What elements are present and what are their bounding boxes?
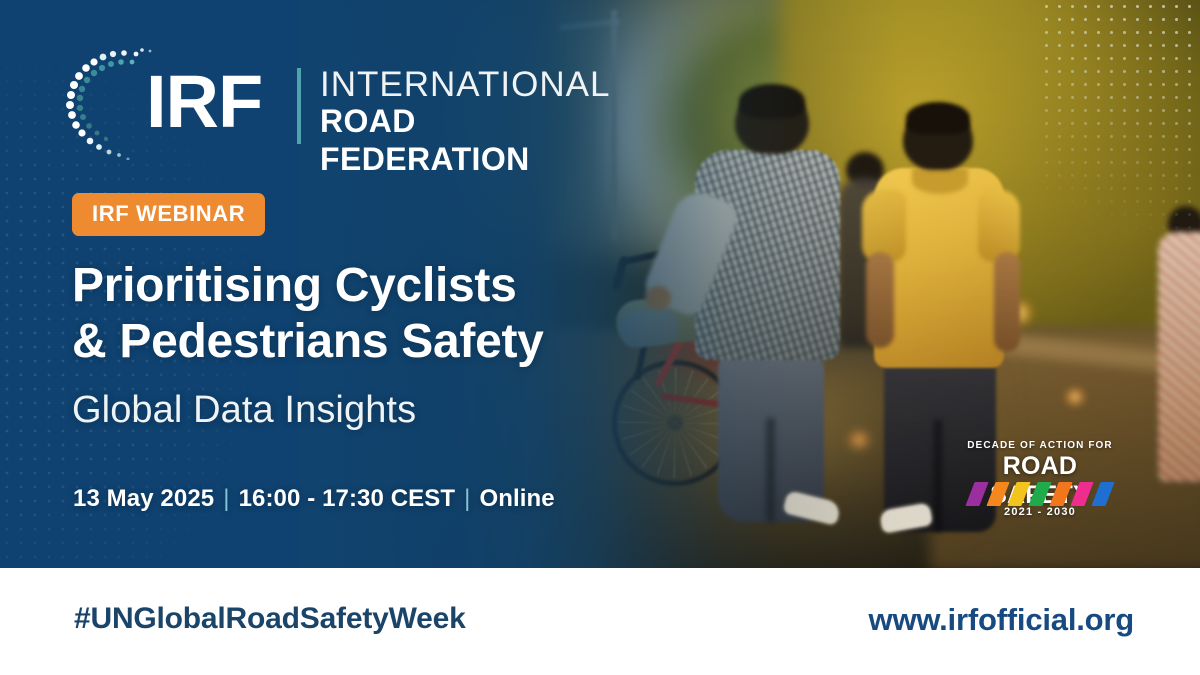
decade-tagline: DECADE OF ACTION FOR [966,440,1114,451]
logo-divider [297,68,301,144]
event-time: 16:00 - 17:30 CEST [239,485,456,512]
logo-line-international: INTERNATIONAL [320,66,610,103]
stripe-7 [1091,482,1114,506]
title-line-1: Prioritising Cyclists [72,258,692,314]
event-location: Online [479,485,554,512]
meta-separator-2: | [455,485,479,512]
irf-logo[interactable]: IRF INTERNATIONAL ROAD FEDERATION [62,48,532,160]
title-line-2: & Pedestrians Safety [72,314,692,370]
logo-wordmark: IRF [146,65,262,139]
stripe-4 [1028,482,1051,506]
logo-line-road-federation: ROAD FEDERATION [320,103,610,179]
stripe-6 [1070,482,1093,506]
dot-pattern-overlay-right [1040,0,1200,300]
stripe-5 [1049,482,1072,506]
webinar-promo-banner: IRF INTERNATIONAL ROAD FEDERATION IRF WE… [0,0,1200,675]
hashtag-text: #UNGlobalRoadSafetyWeek [74,602,466,636]
stripe-3 [1007,482,1030,506]
event-date: 13 May 2025 [73,485,214,512]
stripe-2 [986,482,1009,506]
page-subtitle: Global Data Insights [72,388,692,434]
logo-name-block: INTERNATIONAL ROAD FEDERATION [320,66,610,179]
decade-years: 2021 - 2030 [966,506,1114,518]
footer-bar: #UNGlobalRoadSafetyWeek www.irfofficial.… [0,568,1200,675]
meta-separator-1: | [214,485,238,512]
website-link[interactable]: www.irfofficial.org [869,602,1134,638]
decade-of-action-logo: DECADE OF ACTION FOR ROAD SAFETY 2021 - … [966,440,1114,522]
page-title: Prioritising Cyclists & Pedestrians Safe… [72,258,692,370]
crosswalk-stripes-icon [970,482,1112,506]
webinar-badge: IRF WEBINAR [72,193,265,236]
event-details: 13 May 2025|16:00 - 17:30 CEST|Online [73,485,555,513]
